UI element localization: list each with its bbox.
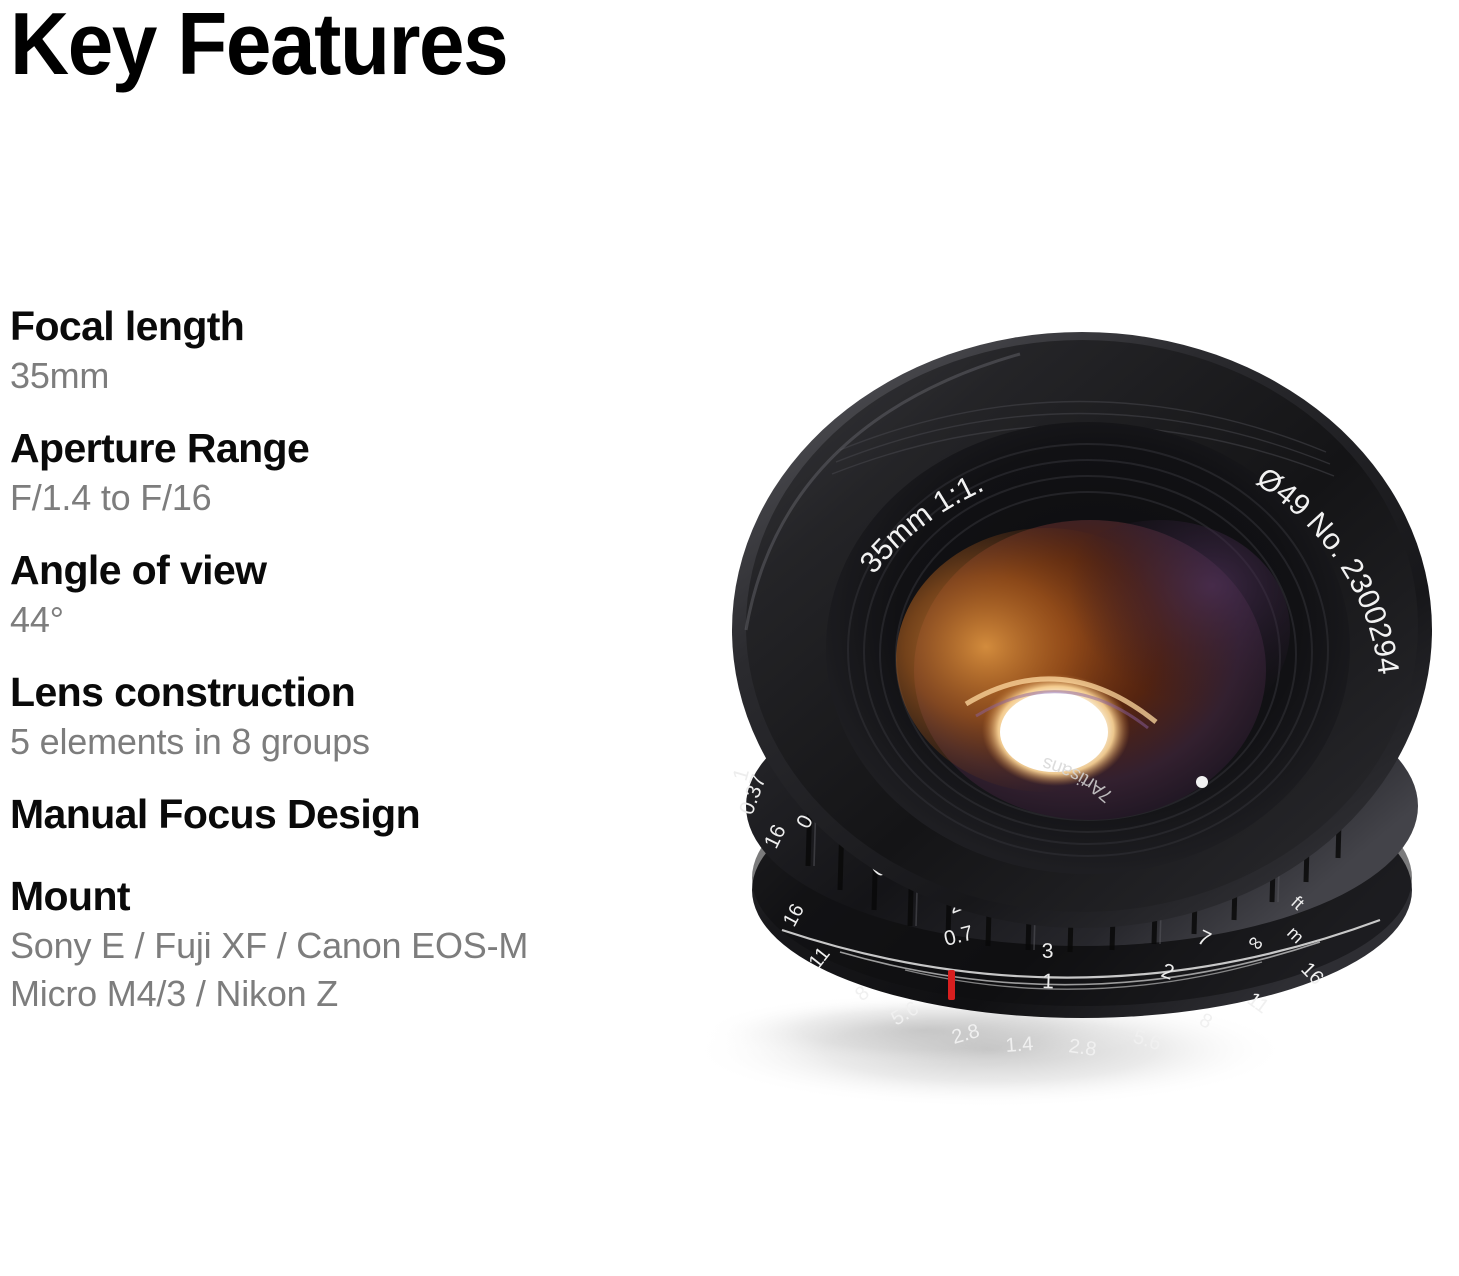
svg-text:1: 1 xyxy=(1042,970,1054,993)
feature-label: Mount xyxy=(10,870,800,922)
feature-label: Lens construction xyxy=(10,666,800,718)
feature-value: 35mm xyxy=(10,352,800,400)
feature-manual-focus-design: Manual Focus Design xyxy=(10,788,800,840)
aperture-dot-marker xyxy=(1196,776,1208,788)
feature-mount: Mount Sony E / Fuji XF / Canon EOS-M Mic… xyxy=(10,870,800,1017)
feature-value: 5 elements in 8 groups xyxy=(10,718,800,766)
feature-angle-of-view: Angle of view 44° xyxy=(10,544,800,644)
product-photo-lens: 16 11 8 5.6 2.8 1.4 2.8 5.6 8 11 16 xyxy=(690,330,1459,1120)
features-text-column: Key Features Focal length 35mm Aperture … xyxy=(10,0,800,1276)
feature-value: F/1.4 to F/16 xyxy=(10,474,800,522)
feature-label: Aperture Range xyxy=(10,422,800,474)
feature-label: Focal length xyxy=(10,300,800,352)
aperture-index-mark xyxy=(948,970,955,1000)
svg-text:3: 3 xyxy=(1041,940,1053,963)
feature-value: 44° xyxy=(10,596,800,644)
feature-value-line-2: Micro M4/3 / Nikon Z xyxy=(10,970,800,1017)
feature-value: Sony E / Fuji XF / Canon EOS-M xyxy=(10,922,800,970)
feature-label: Angle of view xyxy=(10,544,800,596)
feature-aperture-range: Aperture Range F/1.4 to F/16 xyxy=(10,422,800,522)
feature-list: Focal length 35mm Aperture Range F/1.4 t… xyxy=(10,300,800,1039)
feature-lens-construction: Lens construction 5 elements in 8 groups xyxy=(10,666,800,766)
key-features-page: Key Features Focal length 35mm Aperture … xyxy=(0,0,1459,1276)
svg-text:2.8: 2.8 xyxy=(1067,1035,1098,1061)
feature-label: Manual Focus Design xyxy=(10,788,800,840)
page-title: Key Features xyxy=(10,0,507,92)
svg-text:1.4: 1.4 xyxy=(1005,1033,1034,1057)
feature-focal-length: Focal length 35mm xyxy=(10,300,800,400)
